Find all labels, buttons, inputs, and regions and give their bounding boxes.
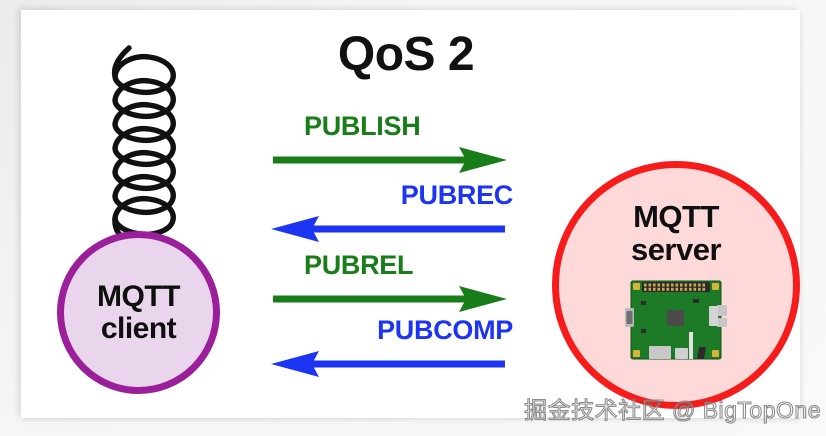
diagram-canvas: QoS 2 <box>0 0 826 436</box>
message-label-pubrel: PUBREL <box>304 252 413 279</box>
message-row-pubrec: PUBREC <box>269 182 513 244</box>
mqtt-client-label-line2: client <box>97 313 180 345</box>
antenna-coil-icon <box>83 24 193 260</box>
mqtt-client-node[interactable]: MQTT client <box>57 231 220 394</box>
message-row-pubcomp: PUBCOMP <box>269 317 513 379</box>
diagram-panel: QoS 2 <box>21 10 800 418</box>
page-title: QoS 2 <box>271 31 541 79</box>
mqtt-client-label-line1: MQTT <box>97 281 180 313</box>
message-row-pubrel: PUBREL <box>269 252 513 314</box>
message-row-publish: PUBLISH <box>269 113 513 175</box>
arrow-right-green-icon <box>269 284 509 314</box>
mqtt-server-label: MQTT server <box>631 200 721 267</box>
message-label-pubrec: PUBREC <box>401 182 513 209</box>
mqtt-client-label: MQTT client <box>97 281 180 345</box>
raspberry-pi-board-icon <box>625 277 727 363</box>
mqtt-server-node[interactable]: MQTT server <box>552 161 800 409</box>
mqtt-server-label-line1: MQTT <box>631 200 721 233</box>
arrow-left-blue-icon <box>269 214 509 244</box>
message-label-publish: PUBLISH <box>304 113 420 140</box>
message-label-pubcomp: PUBCOMP <box>377 317 513 344</box>
mqtt-server-label-line2: server <box>631 233 721 266</box>
arrow-right-green-icon <box>269 145 509 175</box>
arrow-left-blue-icon <box>269 349 509 379</box>
